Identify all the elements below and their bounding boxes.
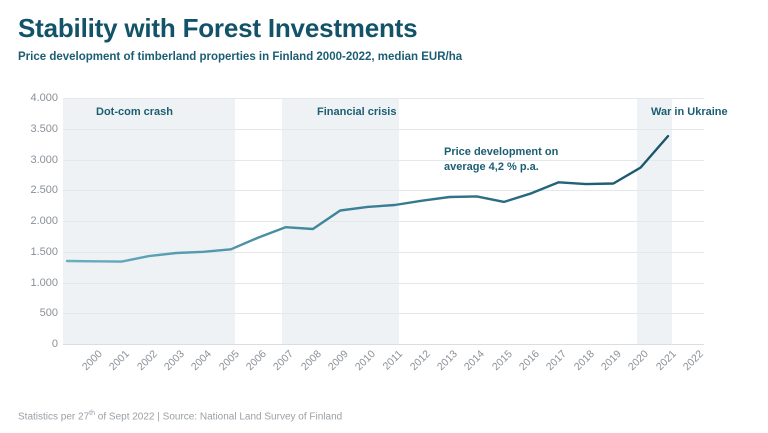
y-axis-tick-label: 1.500 [0,246,58,258]
annotation-war-ukraine: War in Ukraine [651,105,728,120]
x-axis-tick-label: 2011 [380,348,404,372]
x-axis-tick-label: 2001 [107,348,132,373]
footer-source: Statistics per 27th of Sept 2022 | Sourc… [18,410,342,422]
y-axis-tick-label: 3.500 [0,123,58,135]
gridline [63,344,704,345]
x-axis-tick-label: 2017 [544,348,569,373]
x-axis-tick-label: 2005 [216,348,241,373]
x-axis-tick-label: 2007 [271,348,296,373]
y-axis-tick-label: 4.000 [0,92,58,104]
page-title: Stability with Forest Investments [18,14,758,43]
x-axis-tick-label: 2020 [626,348,651,373]
chart-subtitle: Price development of timberland properti… [18,51,758,63]
footer-divider [0,394,768,395]
x-axis-tick-label: 2013 [435,348,460,373]
x-axis-tick-label: 2008 [298,348,323,373]
annotation-financial-crisis: Financial crisis [317,105,396,120]
annotation-dotcom: Dot-com crash [96,105,173,120]
x-axis-tick-label: 2016 [517,348,542,373]
x-axis-tick-label: 2021 [654,348,679,373]
plot-area [63,98,704,344]
x-axis-tick-label: 2004 [189,348,214,373]
x-axis-tick-label: 2010 [353,348,378,373]
x-axis-tick-label: 2014 [462,348,487,373]
y-axis-tick-label: 2.500 [0,184,58,196]
y-axis-tick-label: 1.000 [0,277,58,289]
y-axis-tick-label: 500 [0,307,58,319]
footer-suffix: of Sept 2022 | Source: National Land Sur… [95,411,342,422]
x-axis-tick-label: 2012 [408,348,433,373]
chart-container: 05001.0001.5002.0002.5003.0003.5004.000 … [0,90,768,360]
x-axis-tick-label: 2003 [162,348,187,373]
x-axis-tick-label: 2002 [134,348,159,373]
footer-prefix: Statistics per 27 [18,411,89,422]
x-axis-tick-label: 2022 [681,348,706,373]
data-line [67,136,668,262]
y-axis-tick-label: 0 [0,338,58,350]
x-axis-tick-label: 2006 [244,348,269,373]
y-axis-tick-label: 3.000 [0,154,58,166]
x-axis-tick-label: 2009 [326,348,351,373]
x-axis-tick-label: 2015 [490,348,515,373]
annotation-avg-growth: Price development on average 4,2 % p.a. [444,145,558,175]
y-axis-tick-label: 2.000 [0,215,58,227]
line-series [63,98,704,344]
x-axis-tick-label: 2000 [80,348,105,373]
chart-header: Stability with Forest Investments Price … [18,14,758,63]
x-axis-tick-label: 2019 [599,348,624,373]
x-axis-tick-label: 2018 [572,348,597,373]
